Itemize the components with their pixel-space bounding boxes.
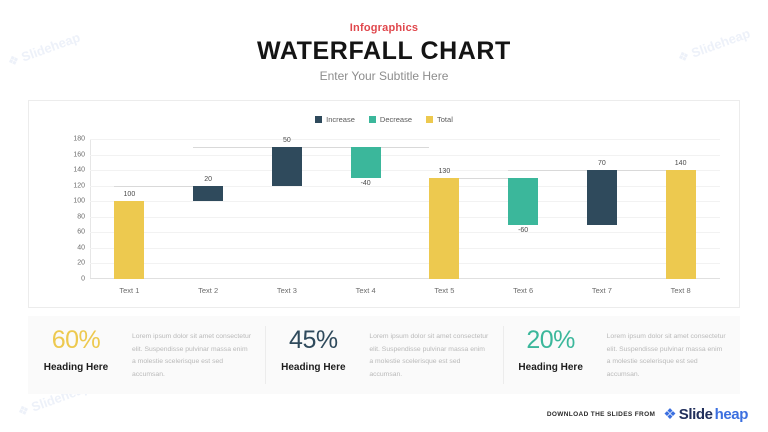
stat-block: 45%Heading HereLorem ipsum dolor sit ame… <box>265 316 502 394</box>
gridline <box>90 232 720 233</box>
gridline <box>90 155 720 156</box>
legend-label: Total <box>437 115 453 124</box>
stat-left-column: 60%Heading Here <box>28 328 124 373</box>
y-axis-tick-label: 100 <box>73 198 85 205</box>
chart-bar[interactable] <box>272 147 302 186</box>
stat-heading: Heading Here <box>28 362 124 373</box>
y-axis-tick-label: 80 <box>77 213 85 220</box>
bar-value-label: 50 <box>283 137 291 144</box>
stat-body-text: Lorem ipsum dolor sit amet consectetur e… <box>361 328 502 381</box>
bar-value-label: 20 <box>204 176 212 183</box>
gridline <box>90 248 720 249</box>
chart-bar[interactable] <box>587 170 617 224</box>
legend-item-increase[interactable]: Increase <box>315 115 355 124</box>
watermark-mark-icon: ❖ <box>16 402 32 420</box>
stat-body-text: Lorem ipsum dolor sit amet consectetur e… <box>599 328 740 381</box>
stats-section: 60%Heading HereLorem ipsum dolor sit ame… <box>28 316 740 394</box>
bar-value-label: 70 <box>598 160 606 167</box>
gridline <box>90 201 720 202</box>
x-axis-tick-label: Text 1 <box>119 286 139 295</box>
page-subtitle: Enter Your Subtitle Here <box>0 69 768 83</box>
legend-swatch-icon <box>369 116 376 123</box>
waterfall-connector-line <box>114 186 193 187</box>
chart-bar[interactable] <box>351 147 381 178</box>
chart-plot-area: 020406080100120140160180100Text 120Text … <box>90 139 720 279</box>
stat-heading: Heading Here <box>265 362 361 373</box>
stat-left-column: 45%Heading Here <box>265 328 361 373</box>
chart-legend: IncreaseDecreaseTotal <box>29 115 739 124</box>
gridline <box>90 217 720 218</box>
stat-percent: 20% <box>503 328 599 353</box>
y-axis-tick-label: 140 <box>73 167 85 174</box>
page-title: WATERFALL CHART <box>0 38 768 64</box>
bar-value-label: -40 <box>361 180 371 187</box>
stat-percent: 60% <box>28 328 124 353</box>
waterfall-connector-line <box>508 170 587 171</box>
chart-bar[interactable] <box>666 170 696 279</box>
legend-label: Decrease <box>380 115 412 124</box>
x-axis-tick-label: Text 5 <box>434 286 454 295</box>
stat-percent: 45% <box>265 328 361 353</box>
waterfall-connector-line <box>193 147 272 148</box>
y-axis-tick-label: 0 <box>81 276 85 283</box>
stat-left-column: 20%Heading Here <box>503 328 599 373</box>
eyebrow-label: Infographics <box>0 22 768 34</box>
x-axis-tick-label: Text 2 <box>198 286 218 295</box>
slideheap-logo-icon: ❖ <box>663 407 676 422</box>
brand-logo[interactable]: ❖ Slideheap <box>663 406 748 423</box>
x-axis-line <box>90 278 720 279</box>
bar-value-label: 140 <box>675 160 687 167</box>
header: Infographics WATERFALL CHART Enter Your … <box>0 22 768 83</box>
chart-card: IncreaseDecreaseTotal 020406080100120140… <box>28 100 740 308</box>
stat-heading: Heading Here <box>503 362 599 373</box>
y-axis-line <box>90 139 91 279</box>
footer: DOWNLOAD THE SLIDES FROM ❖ Slideheap <box>547 406 748 423</box>
x-axis-tick-label: Text 6 <box>513 286 533 295</box>
x-axis-tick-label: Text 3 <box>277 286 297 295</box>
y-axis-tick-label: 120 <box>73 182 85 189</box>
chart-bar[interactable] <box>508 178 538 225</box>
gridline <box>90 139 720 140</box>
chart-bar[interactable] <box>429 178 459 279</box>
stat-body-text: Lorem ipsum dolor sit amet consectetur e… <box>124 328 265 381</box>
y-axis-tick-label: 40 <box>77 244 85 251</box>
bar-value-label: -60 <box>518 227 528 234</box>
footer-text: DOWNLOAD THE SLIDES FROM <box>547 411 655 418</box>
y-axis-tick-label: 20 <box>77 260 85 267</box>
bar-value-label: 100 <box>124 191 136 198</box>
legend-swatch-icon <box>315 116 322 123</box>
chart-bar[interactable] <box>193 186 223 202</box>
gridline <box>90 263 720 264</box>
slide-root: ❖Slideheap ❖Slideheap ❖Slideheap ❖Slideh… <box>0 0 768 432</box>
bar-value-label: 130 <box>439 168 451 175</box>
brand-name-first: Slide <box>679 406 713 423</box>
legend-item-total[interactable]: Total <box>426 115 453 124</box>
brand-name-second: heap <box>715 406 748 423</box>
x-axis-tick-label: Text 8 <box>671 286 691 295</box>
x-axis-tick-label: Text 4 <box>356 286 376 295</box>
y-axis-tick-label: 160 <box>73 151 85 158</box>
chart-bar[interactable] <box>114 201 144 279</box>
legend-item-decrease[interactable]: Decrease <box>369 115 412 124</box>
y-axis-tick-label: 180 <box>73 136 85 143</box>
stat-block: 60%Heading HereLorem ipsum dolor sit ame… <box>28 316 265 394</box>
y-axis-tick-label: 60 <box>77 229 85 236</box>
legend-swatch-icon <box>426 116 433 123</box>
x-axis-tick-label: Text 7 <box>592 286 612 295</box>
stat-block: 20%Heading HereLorem ipsum dolor sit ame… <box>503 316 740 394</box>
legend-label: Increase <box>326 115 355 124</box>
